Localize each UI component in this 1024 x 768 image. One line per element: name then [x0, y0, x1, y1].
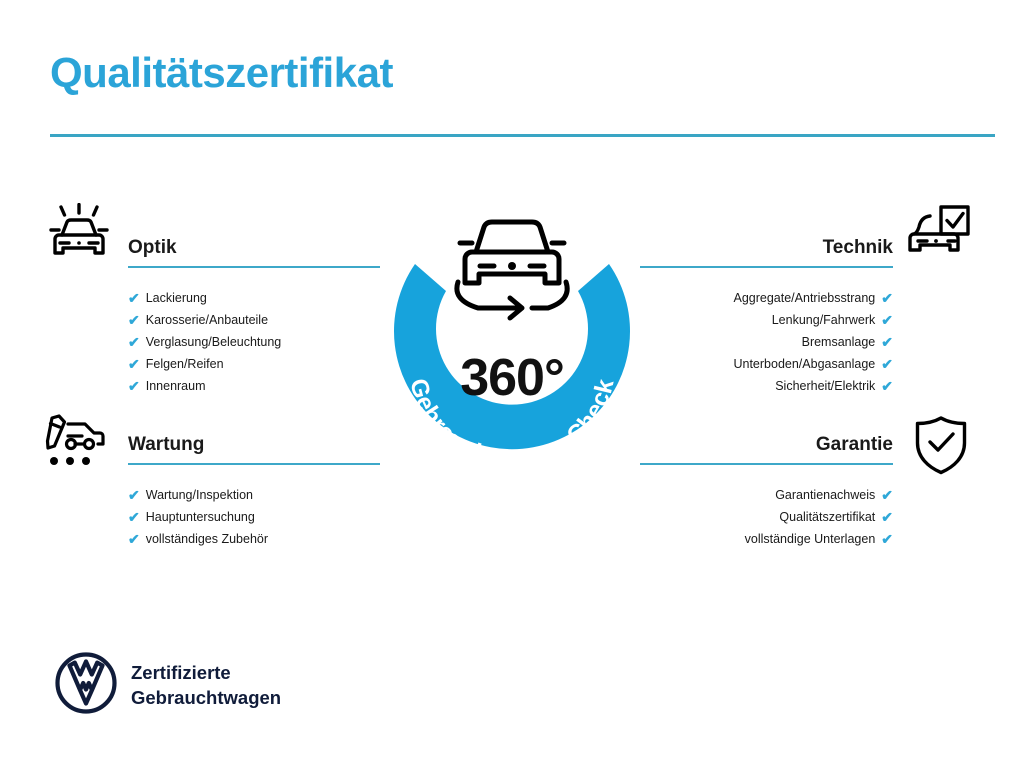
- check-icon: ✔: [881, 506, 893, 528]
- footer-line-2: Gebrauchtwagen: [131, 685, 281, 710]
- section-wartung: Wartung ✔Wartung/Inspektion ✔Hauptunters…: [128, 435, 380, 550]
- check-icon: ✔: [881, 287, 893, 309]
- list-item-label: Verglasung/Beleuchtung: [146, 331, 282, 353]
- check-icon: ✔: [881, 484, 893, 506]
- list-item-label: vollständige Unterlagen: [745, 528, 876, 550]
- check-icon: ✔: [128, 353, 140, 375]
- badge-center-value: 360°: [372, 348, 652, 408]
- list-item: Aggregate/Antriebsstrang✔: [640, 287, 893, 309]
- list-item-label: Karosserie/Anbauteile: [146, 309, 268, 331]
- check-icon: ✔: [128, 506, 140, 528]
- list-item-label: Unterboden/Abgasanlage: [733, 353, 875, 375]
- list-item: ✔Felgen/Reifen: [128, 353, 380, 375]
- check-icon: ✔: [128, 309, 140, 331]
- checklist-technik: Aggregate/Antriebsstrang✔ Lenkung/Fahrwe…: [640, 268, 893, 397]
- list-item: ✔Karosserie/Anbauteile: [128, 309, 380, 331]
- section-technik: Technik Aggregate/Antriebsstrang✔ Lenkun…: [640, 238, 893, 397]
- checklist-wartung: ✔Wartung/Inspektion ✔Hauptuntersuchung ✔…: [128, 465, 380, 550]
- check-icon: ✔: [128, 528, 140, 550]
- check-icon: ✔: [128, 287, 140, 309]
- list-item-label: Hauptuntersuchung: [146, 506, 255, 528]
- list-item: Unterboden/Abgasanlage✔: [640, 353, 893, 375]
- footer-line-1: Zertifizierte: [131, 660, 281, 685]
- list-item: Sicherheit/Elektrik✔: [640, 375, 893, 397]
- badge-ring-graphic: Gebrauchtwagen-Check: [372, 196, 652, 496]
- car-shine-icon: [48, 203, 110, 270]
- list-item: vollständige Unterlagen✔: [640, 528, 893, 550]
- check-icon: ✔: [881, 528, 893, 550]
- page-title: Qualitätszertifikat: [50, 50, 393, 96]
- list-item: ✔Hauptuntersuchung: [128, 506, 380, 528]
- list-item: ✔vollständiges Zubehör: [128, 528, 380, 550]
- section-title-garantie: Garantie: [640, 435, 893, 463]
- list-item: ✔Innenraum: [128, 375, 380, 397]
- car-service-pen-icon: [45, 414, 107, 473]
- list-item-label: Felgen/Reifen: [146, 353, 224, 375]
- badge-360-gebrauchtwagen-check: Gebrauchtwagen-Check 360°: [372, 196, 652, 496]
- check-icon: ✔: [881, 309, 893, 331]
- certificate-page: Qualitätszertifikat: [0, 0, 1024, 768]
- car-checkbox-icon: [908, 205, 970, 268]
- checklist-optik: ✔Lackierung ✔Karosserie/Anbauteile ✔Verg…: [128, 268, 380, 397]
- list-item-label: vollständiges Zubehör: [146, 528, 268, 550]
- volkswagen-logo-icon: [55, 652, 117, 719]
- list-item: Garantienachweis✔: [640, 484, 893, 506]
- section-title-optik: Optik: [128, 238, 380, 266]
- list-item-label: Aggregate/Antriebsstrang: [734, 287, 876, 309]
- check-icon: ✔: [128, 331, 140, 353]
- check-icon: ✔: [128, 375, 140, 397]
- footer-brand-text: Zertifizierte Gebrauchtwagen: [131, 660, 281, 710]
- list-item-label: Lackierung: [146, 287, 207, 309]
- check-icon: ✔: [881, 375, 893, 397]
- list-item: ✔Verglasung/Beleuchtung: [128, 331, 380, 353]
- list-item-label: Bremsanlage: [802, 331, 876, 353]
- section-optik: Optik ✔Lackierung ✔Karosserie/Anbauteile…: [128, 238, 380, 397]
- list-item-label: Garantienachweis: [775, 484, 875, 506]
- shield-check-icon: [914, 415, 968, 480]
- list-item-label: Innenraum: [146, 375, 206, 397]
- list-item: ✔Lackierung: [128, 287, 380, 309]
- check-icon: ✔: [881, 353, 893, 375]
- list-item: ✔Wartung/Inspektion: [128, 484, 380, 506]
- list-item: Lenkung/Fahrwerk✔: [640, 309, 893, 331]
- header-divider: [50, 134, 995, 137]
- section-title-wartung: Wartung: [128, 435, 380, 463]
- check-icon: ✔: [128, 484, 140, 506]
- list-item-label: Sicherheit/Elektrik: [775, 375, 875, 397]
- checklist-garantie: Garantienachweis✔ Qualitätszertifikat✔ v…: [640, 465, 893, 550]
- section-title-technik: Technik: [640, 238, 893, 266]
- list-item: Qualitätszertifikat✔: [640, 506, 893, 528]
- check-icon: ✔: [881, 331, 893, 353]
- list-item: Bremsanlage✔: [640, 331, 893, 353]
- car-rotate-360-icon: [457, 222, 567, 318]
- list-item-label: Wartung/Inspektion: [146, 484, 253, 506]
- list-item-label: Qualitätszertifikat: [779, 506, 875, 528]
- list-item-label: Lenkung/Fahrwerk: [772, 309, 876, 331]
- section-garantie: Garantie Garantienachweis✔ Qualitätszert…: [640, 435, 893, 550]
